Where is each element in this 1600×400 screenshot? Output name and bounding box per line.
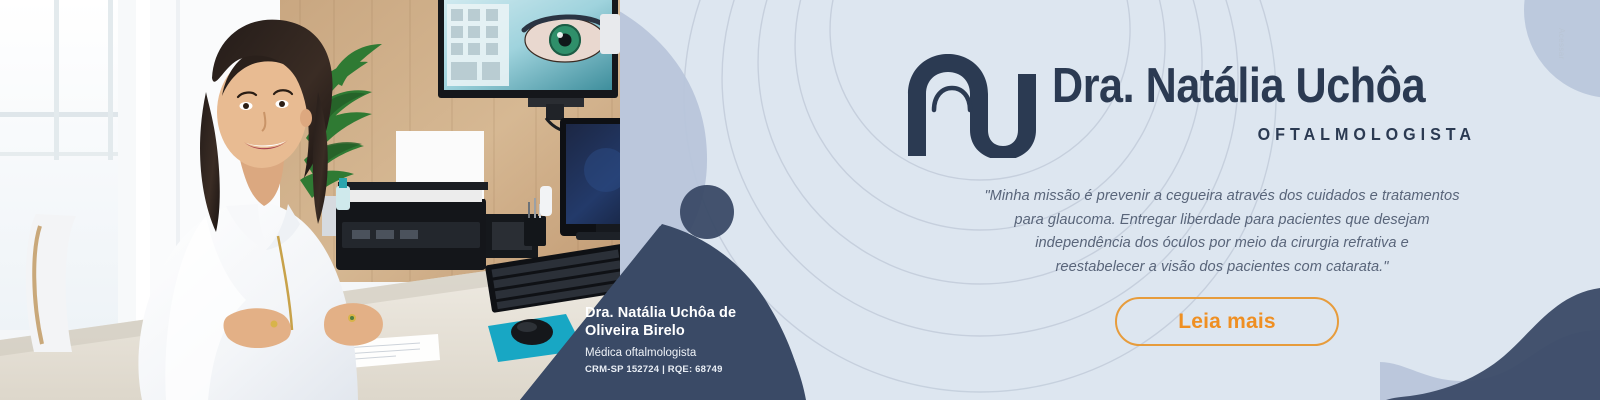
quote-line-3: independência dos óculos por meio da cir…: [852, 232, 1592, 256]
doctor-credentials: Dra. Natália Uchôa de Oliveira Birelo Mé…: [585, 305, 825, 376]
corner-watermark: Acessar: [1557, 28, 1566, 60]
doctor-name-line-1: Dra. Natália Uchôa de: [585, 305, 825, 323]
nu-monogram-eye-icon: [890, 48, 1040, 158]
quote-line-1: "Minha missão é prevenir a cegueira atra…: [852, 185, 1592, 209]
brand-lockup: Dra. Natália Uchôa OFTALMOLOGISTA: [890, 48, 1476, 158]
mission-quote: "Minha missão é prevenir a cegueira atra…: [852, 185, 1592, 280]
quote-line-4: reestabelecer a visão dos pacientes com …: [852, 256, 1592, 280]
brand-name: Dra. Natália Uchôa: [1052, 62, 1425, 111]
doctor-name-line-2: Oliveira Birelo: [585, 323, 825, 341]
doctor-registration: CRM-SP 152724 | RQE: 68749: [585, 364, 825, 376]
doctor-role: Médica oftalmologista: [585, 346, 825, 360]
brand-wordmark: Dra. Natália Uchôa OFTALMOLOGISTA: [1052, 48, 1476, 145]
right-content-area: Dra. Natália Uchôa OFTALMOLOGISTA "Minha…: [840, 0, 1600, 400]
brand-specialty: OFTALMOLOGISTA: [1086, 124, 1476, 145]
read-more-button[interactable]: Leia mais: [1115, 297, 1339, 346]
quote-line-2: para glaucoma. Entregar liberdade para p…: [852, 209, 1592, 233]
promo-banner: Dra. Natália Uchôa de Oliveira Birelo Mé…: [0, 0, 1600, 400]
doctor-photo: [0, 0, 620, 400]
